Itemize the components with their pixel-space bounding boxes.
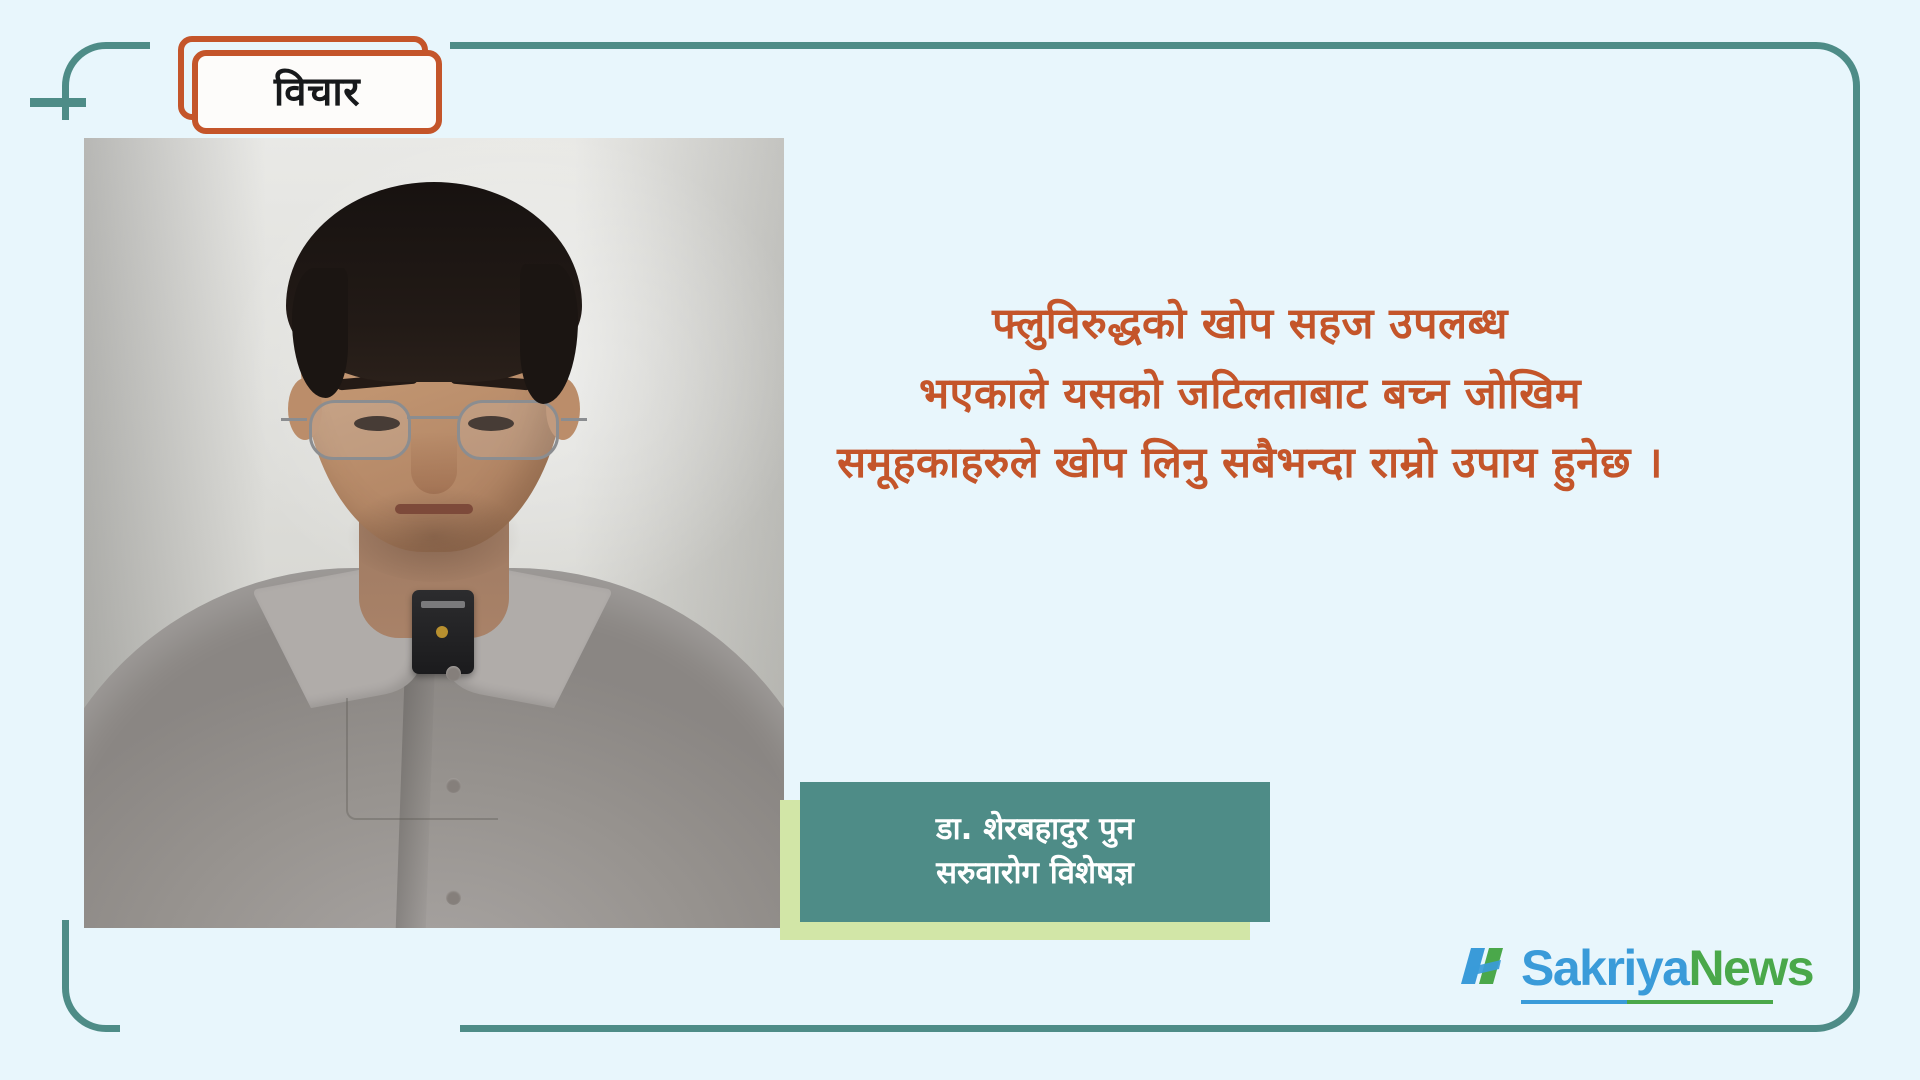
eyeglass-lens-right: [457, 400, 559, 460]
frame-accent-tick: [30, 98, 86, 107]
brand-wordmark: SakriyaNews: [1521, 943, 1813, 993]
eyeglass-temple-left: [281, 418, 307, 421]
photo-shirt-pocket: [346, 698, 498, 820]
photo-eyeglasses: [303, 396, 565, 460]
eyeglass-lens-left: [309, 400, 411, 460]
brand-word-part1: Sakriya: [1521, 940, 1688, 996]
photo-mouth: [395, 504, 473, 514]
photo-shirt-button-2: [446, 778, 461, 793]
quote-line-1: फ्लुविरुद्धको खोप सहज उपलब्ध: [660, 290, 1840, 360]
photo-shirt-button-1: [446, 666, 461, 681]
attribution-role: सरुवारोग विशेषज्ञ: [936, 856, 1134, 892]
news-quote-card: विचार: [0, 0, 1920, 1080]
quote-line-3: समूहकाहरुले खोप लिनु सबैभन्दा राम्रो उपा…: [660, 429, 1840, 499]
frame-mask-left: [55, 120, 81, 920]
brand-underline: [1521, 1000, 1773, 1004]
photo-beard-shadow: [336, 462, 532, 582]
eyeglass-bridge: [407, 416, 461, 419]
category-label: विचार: [274, 72, 360, 112]
frame-mask-bottom: [120, 1010, 460, 1040]
quote-text: फ्लुविरुद्धको खोप सहज उपलब्ध भएकाले यसको…: [660, 290, 1840, 499]
photo-shirt-button-3: [446, 890, 461, 905]
attribution-box: डा. शेरबहादुर पुन सरुवारोग विशेषज्ञ: [800, 782, 1270, 922]
attribution-name: डा. शेरबहादुर पुन: [936, 812, 1134, 848]
category-chip: विचार: [192, 50, 442, 134]
doctor-portrait-photo: [84, 138, 784, 928]
brand-word-part2: News: [1688, 940, 1813, 996]
eyeglass-temple-right: [561, 418, 587, 421]
sakriya-monogram-icon: [1455, 938, 1515, 998]
quote-line-2: भएकाले यसको जटिलताबाट बच्न जोखिम: [660, 360, 1840, 430]
lapel-microphone-icon: [412, 590, 474, 674]
brand-logo[interactable]: SakriyaNews: [1455, 938, 1813, 998]
